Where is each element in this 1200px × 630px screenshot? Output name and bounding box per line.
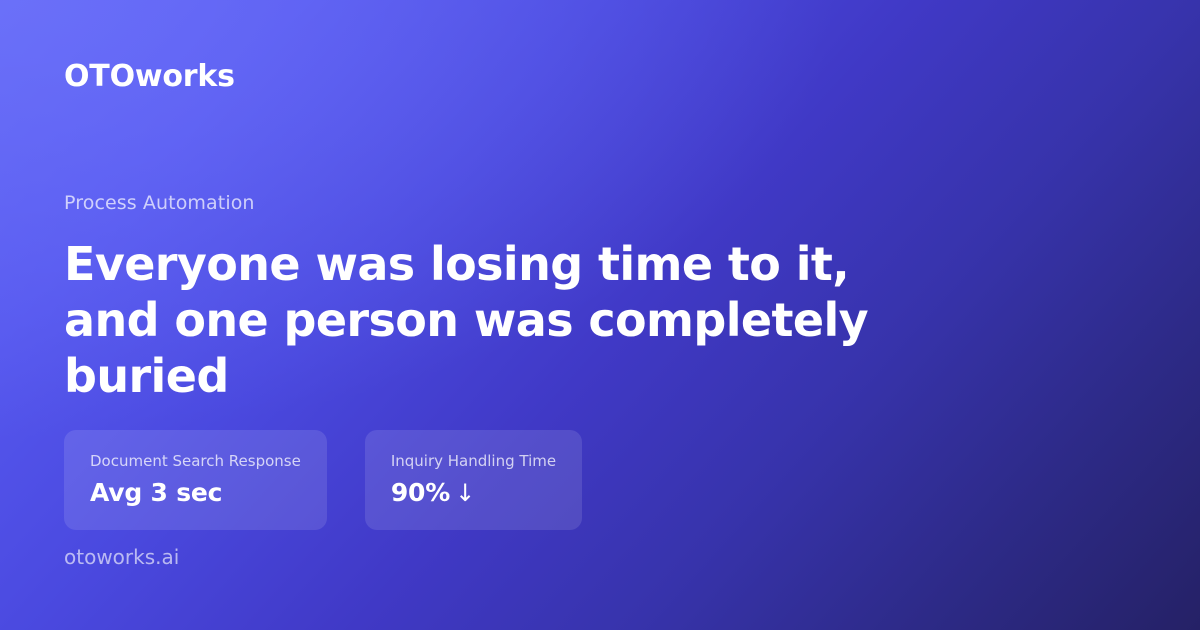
footer-website-url: otoworks.ai [64, 545, 179, 569]
stat-value: Avg 3 sec [90, 479, 222, 507]
social-share-card: OTOworks Process Automation Everyone was… [0, 0, 1200, 630]
stat-card: Inquiry Handling Time 90% ↓ [365, 430, 582, 530]
stat-value-row: 90% ↓ [391, 479, 556, 507]
stat-label: Inquiry Handling Time [391, 453, 556, 470]
arrow-down-icon: ↓ [455, 481, 475, 505]
brand-logo-wordmark: OTOworks [64, 62, 235, 92]
card-content: OTOworks Process Automation Everyone was… [0, 0, 1200, 630]
stat-card-group: Document Search Response Avg 3 sec Inqui… [64, 430, 582, 530]
stat-value-row: Avg 3 sec [90, 479, 301, 507]
stat-label: Document Search Response [90, 453, 301, 470]
headline: Everyone was losing time to it, and one … [64, 236, 904, 404]
category-eyebrow: Process Automation [64, 192, 255, 215]
stat-value: 90% [391, 479, 450, 507]
stat-card: Document Search Response Avg 3 sec [64, 430, 327, 530]
